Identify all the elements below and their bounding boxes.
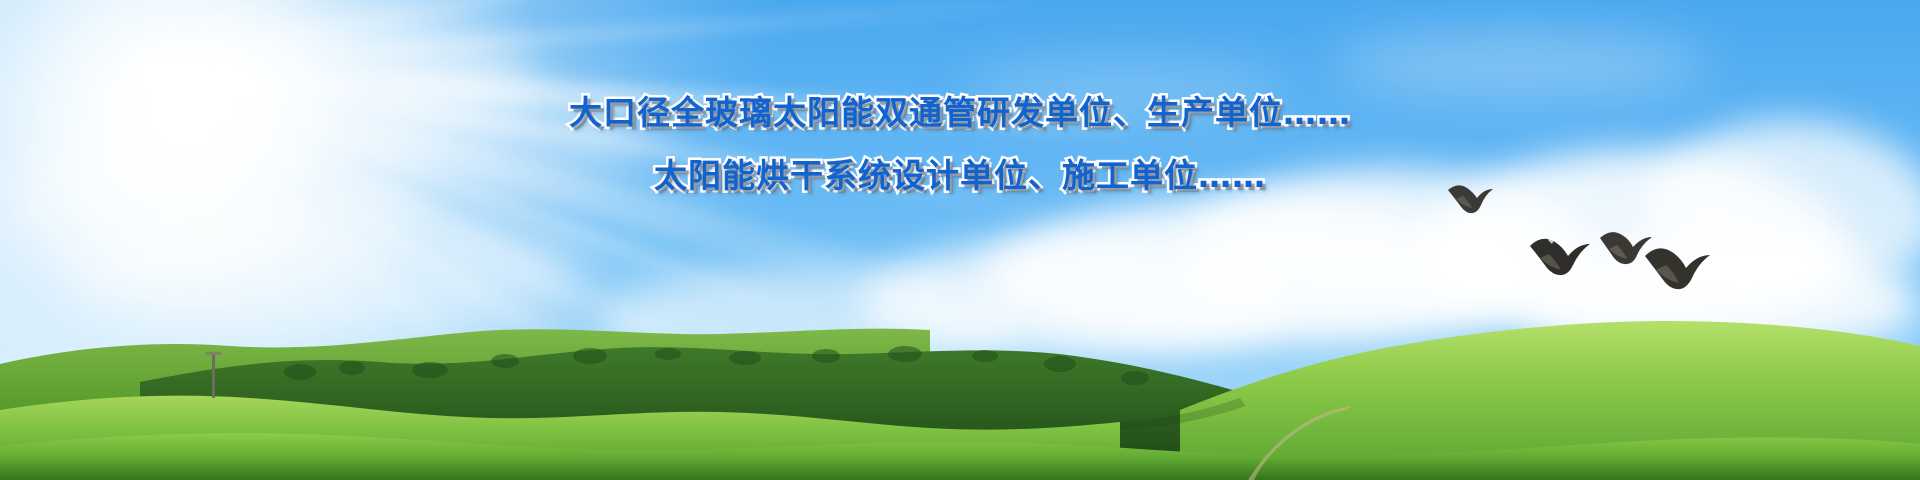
hero-banner: 大口径全玻璃太阳能双通管研发单位、生产单位…… 太阳能烘干系统设计单位、施工单位… [0,0,1920,480]
hills-landscape [0,260,1920,480]
bird-icon [1448,185,1493,213]
utility-pole-icon [203,348,225,398]
